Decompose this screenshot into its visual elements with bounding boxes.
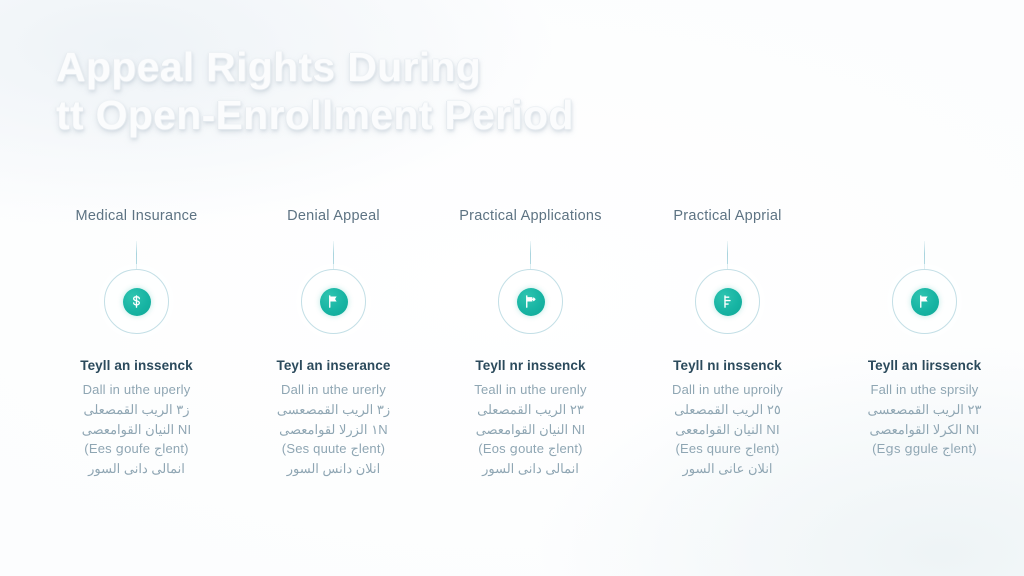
column-group: Medical Insurance Teyll an inssenck Dall… <box>0 208 1024 479</box>
column-2-header: Denial Appeal <box>287 208 380 234</box>
column-3-connector <box>530 241 531 269</box>
page-title: Appeal Rights During tt Open-Enrollment … <box>56 44 756 139</box>
column-1-body: Teyll an inssenck Dall in uthe uperly ز٣… <box>49 358 225 479</box>
column-3[interactable]: Practical Applications Teyll nr inssenck… <box>432 208 629 479</box>
column-4[interactable]: Practical Apprial Teyll nı inssenck Dall… <box>629 208 826 479</box>
column-1-header: Medical Insurance <box>76 208 198 234</box>
page-title-line-2: tt Open-Enrollment Period <box>56 92 756 140</box>
column-3-lede: Teyll nr inssenck <box>443 358 619 373</box>
column-5-body: Teyll an lirssenck Fall in uthe sprsily … <box>837 358 1013 459</box>
column-1-line-3: NI النيان القوامعصى <box>49 420 225 440</box>
column-3-line-5: انمالى دانى السور <box>443 459 619 479</box>
column-4-header: Practical Apprial <box>673 208 781 234</box>
column-3-line-2: ٢٣ الريب القمصعلى <box>443 400 619 420</box>
column-2-line-1: Dall in uthe urerly <box>246 380 422 400</box>
column-1-line-2: ز٣ الريب القمصعلى <box>49 400 225 420</box>
column-4-line-1: Dall in uthe uproily <box>640 380 816 400</box>
column-5-lede: Teyll an lirssenck <box>837 358 1013 373</box>
column-5-line-3: NI الكرلا القوامعصى <box>837 420 1013 440</box>
column-1-lede: Teyll an inssenck <box>49 358 225 373</box>
dollar-sign-icon <box>123 288 151 316</box>
column-4-lede: Teyll nı inssenck <box>640 358 816 373</box>
column-4-line-2: ٢٥ الريب القمصعلى <box>640 400 816 420</box>
column-2[interactable]: Denial Appeal Teyl an inserance Dall in … <box>235 208 432 479</box>
column-3-header: Practical Applications <box>459 208 602 234</box>
column-3-line-4: (Eoѕ ցoute جlent) <box>443 439 619 459</box>
column-2-lede: Teyl an inserance <box>246 358 422 373</box>
column-5-line-4: (Eցѕ ցgule جlent) <box>837 439 1013 459</box>
column-4-connector <box>727 241 728 269</box>
column-4-line-4: (Eeѕ quure جlent) <box>640 439 816 459</box>
column-3-line-1: Teall in uthe urenly <box>443 380 619 400</box>
column-5-line-2: ٢٣ الريب القمصعسى <box>837 400 1013 420</box>
column-1-line-1: Dall in uthe uperly <box>49 380 225 400</box>
page-title-line-1: Appeal Rights During <box>56 44 481 90</box>
column-4-ring <box>695 269 760 334</box>
infographic-canvas: Appeal Rights During tt Open-Enrollment … <box>0 0 1024 576</box>
flag-icon <box>911 288 939 316</box>
column-3-body: Teyll nr inssenck Teall in uthe urenly ٢… <box>443 358 619 479</box>
column-4-line-3: NI النيان القوامععى <box>640 420 816 440</box>
column-1-connector <box>136 241 137 269</box>
column-1-line-5: انمالى دانى السور <box>49 459 225 479</box>
column-4-body: Teyll nı inssenck Dall in uthe uproily ٢… <box>640 358 816 479</box>
column-2-line-5: انلان دانس السور <box>246 459 422 479</box>
column-1-ring <box>104 269 169 334</box>
column-5[interactable]: Teyll an lirssenck Fall in uthe sprsily … <box>826 208 1023 479</box>
column-2-ring <box>301 269 366 334</box>
column-3-line-3: NI النيان القوامعصى <box>443 420 619 440</box>
column-4-line-5: انلان عانى السور <box>640 459 816 479</box>
column-1[interactable]: Medical Insurance Teyll an inssenck Dall… <box>38 208 235 479</box>
column-2-connector <box>333 241 334 269</box>
column-2-line-2: ز٣ الريب القمصعسى <box>246 400 422 420</box>
column-1-line-4: (Eeѕ ցoufe جlent) <box>49 439 225 459</box>
flag-tick-icon <box>714 288 742 316</box>
column-2-body: Teyl an inserance Dall in uthe urerly ز٣… <box>246 358 422 479</box>
column-5-connector <box>924 241 925 269</box>
column-5-line-1: Fall in uthe sprsily <box>837 380 1013 400</box>
column-3-ring <box>498 269 563 334</box>
column-5-ring <box>892 269 957 334</box>
flag-arrow-icon <box>517 288 545 316</box>
flag-icon <box>320 288 348 316</box>
column-2-line-4: (Seѕ quute جlent) <box>246 439 422 459</box>
column-2-line-3: ١N الزرلا لقوامعصى <box>246 420 422 440</box>
